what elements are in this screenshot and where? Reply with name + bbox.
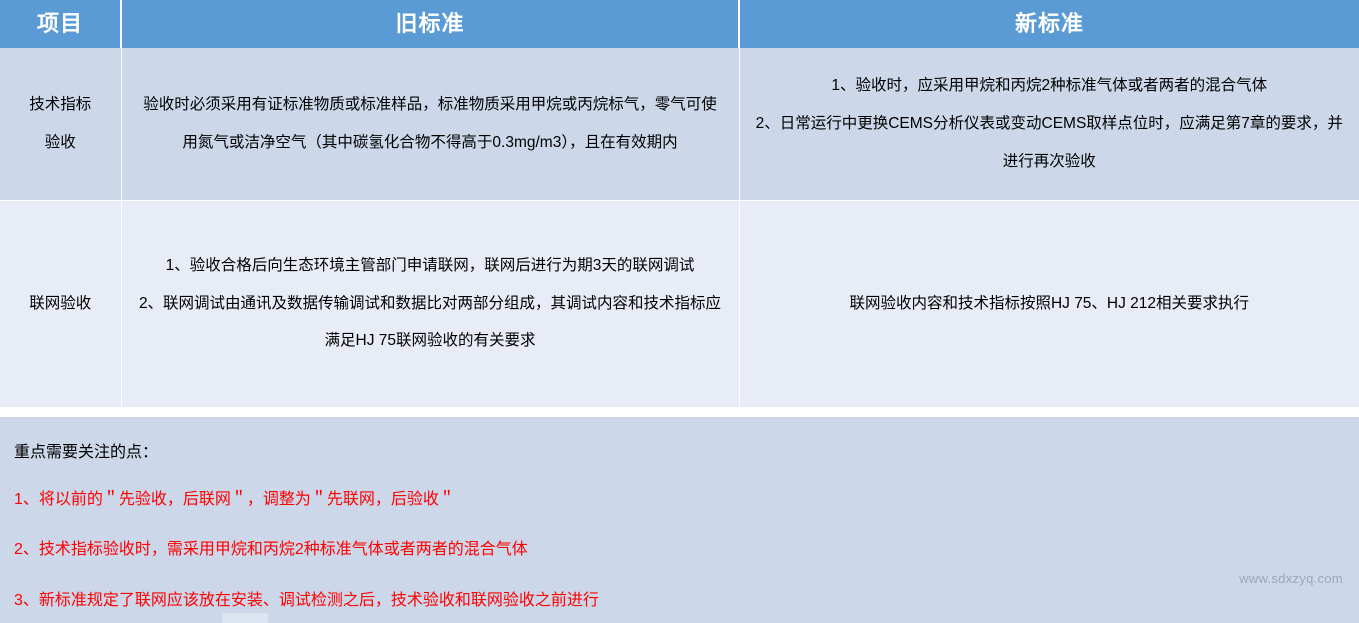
cell-new-standard-technical: 1、验收时，应采用甲烷和丙烷2种标准气体或者两者的混合气体 2、日常运行中更换C… <box>739 48 1359 200</box>
site-watermark: www.sdxzyq.com <box>1239 571 1343 586</box>
cell-paragraph: 联网验收内容和技术指标按照HJ 75、HJ 212相关要求执行 <box>756 285 1344 323</box>
comparison-page: 项目 旧标准 新标准 技术指标 验收 验收时必须采用有证标准物质或标准样品，标准… <box>0 0 1359 623</box>
cell-paragraph: 验收时必须采用有证标准物质或标准样品，标准物质采用甲烷或丙烷标气，零气可使用氮气… <box>138 86 723 162</box>
cell-paragraph: 2、联网调试由通讯及数据传输调试和数据比对两部分组成，其调试内容和技术指标应满足… <box>138 285 723 361</box>
row-label-line: 技术指标 <box>6 86 115 124</box>
cell-new-standard-network: 联网验收内容和技术指标按照HJ 75、HJ 212相关要求执行 <box>739 200 1359 407</box>
cell-paragraph: 1、验收时，应采用甲烷和丙烷2种标准气体或者两者的混合气体 <box>756 67 1344 105</box>
column-header-item: 项目 <box>0 0 121 48</box>
key-points-title: 重点需要关注的点： <box>14 443 1345 462</box>
table-body: 技术指标 验收 验收时必须采用有证标准物质或标准样品，标准物质采用甲烷或丙烷标气… <box>0 48 1359 407</box>
key-point-item: 2、技术指标验收时，需采用甲烷和丙烷2种标准气体或者两者的混合气体 <box>14 540 1345 559</box>
column-header-old-standard: 旧标准 <box>121 0 739 48</box>
cell-old-standard-technical: 验收时必须采用有证标准物质或标准样品，标准物质采用甲烷或丙烷标气，零气可使用氮气… <box>121 48 739 200</box>
row-label-technical-acceptance: 技术指标 验收 <box>0 48 121 200</box>
row-label-network-acceptance: 联网验收 <box>0 200 121 407</box>
cell-paragraph: 2、日常运行中更换CEMS分析仪表或变动CEMS取样点位时，应满足第7章的要求，… <box>756 105 1344 181</box>
header-row: 项目 旧标准 新标准 <box>0 0 1359 48</box>
table-row: 联网验收 1、验收合格后向生态环境主管部门申请联网，联网后进行为期3天的联网调试… <box>0 200 1359 407</box>
column-header-new-standard: 新标准 <box>739 0 1359 48</box>
cell-old-standard-network: 1、验收合格后向生态环境主管部门申请联网，联网后进行为期3天的联网调试 2、联网… <box>121 200 739 407</box>
bottom-strip-highlight <box>222 613 268 623</box>
key-points-panel: 重点需要关注的点： 1、将以前的＂先验收，后联网＂，调整为＂先联网，后验收＂ 2… <box>0 417 1359 613</box>
table-header: 项目 旧标准 新标准 <box>0 0 1359 48</box>
key-point-item: 1、将以前的＂先验收，后联网＂，调整为＂先联网，后验收＂ <box>14 490 1345 509</box>
standards-comparison-table: 项目 旧标准 新标准 技术指标 验收 验收时必须采用有证标准物质或标准样品，标准… <box>0 0 1359 408</box>
key-point-item: 3、新标准规定了联网应该放在安装、调试检测之后，技术验收和联网验收之前进行 <box>14 591 1345 610</box>
row-label-line: 联网验收 <box>6 285 115 323</box>
cell-paragraph: 1、验收合格后向生态环境主管部门申请联网，联网后进行为期3天的联网调试 <box>138 247 723 285</box>
bottom-strip <box>0 613 1359 623</box>
row-label-line: 验收 <box>6 124 115 162</box>
table-row: 技术指标 验收 验收时必须采用有证标准物质或标准样品，标准物质采用甲烷或丙烷标气… <box>0 48 1359 200</box>
